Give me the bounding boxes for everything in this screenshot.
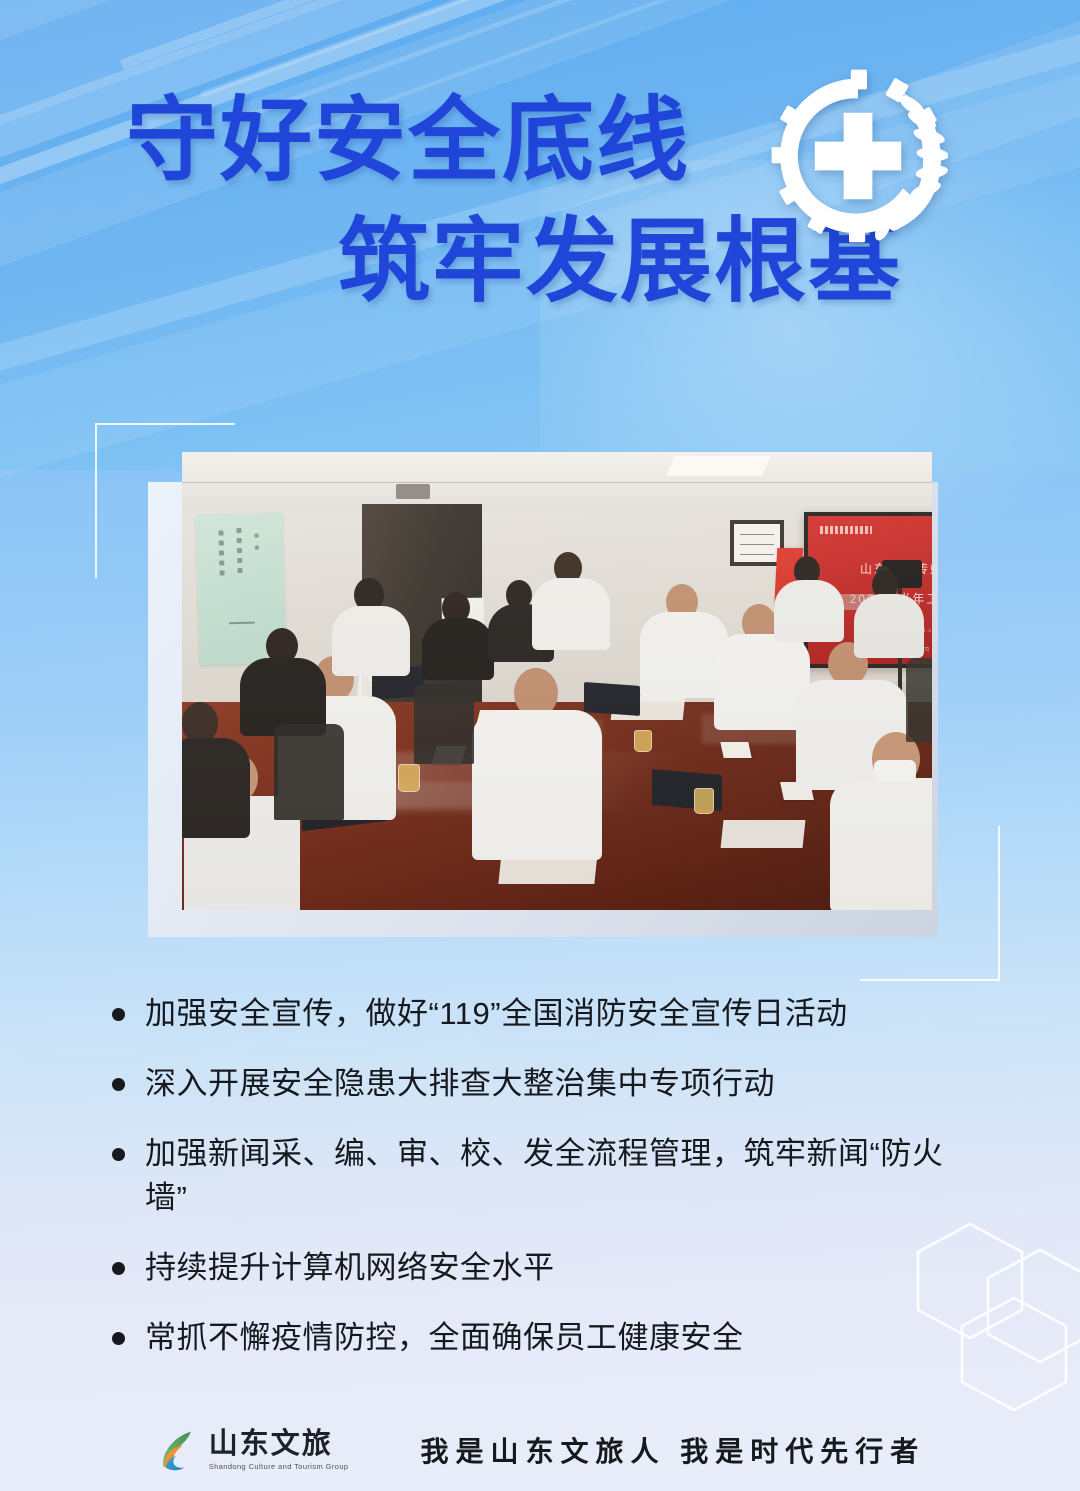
- bullet-dot-icon: [112, 1078, 125, 1091]
- poster-footer: 山东文旅 Shandong Culture and Tourism Group …: [0, 1427, 1080, 1473]
- list-item: 持续提升计算机网络安全水平: [112, 1246, 1012, 1290]
- meeting-photo-block: 山东文旅传媒集团 2022年半年工作会议 www.sdwl.cn 山东文旅传媒集…: [148, 452, 948, 942]
- bullet-text: 加强安全宣传，做好“119”全国消防安全宣传日活动: [145, 992, 848, 1036]
- bullet-text: 持续提升计算机网络安全水平: [145, 1246, 555, 1290]
- bullet-list: 加强安全宣传，做好“119”全国消防安全宣传日活动 深入开展安全隐患大排查大整治…: [112, 992, 1012, 1360]
- brand-name-en: Shandong Culture and Tourism Group: [209, 1462, 349, 1471]
- shandong-culture-tourism-logo-icon: [155, 1427, 201, 1473]
- brand-name-cn: 山东文旅: [209, 1429, 349, 1459]
- bullet-text: 加强新闻采、编、审、校、发全流程管理，筑牢新闻“防火墙”: [145, 1132, 975, 1220]
- list-item: 加强新闻采、编、审、校、发全流程管理，筑牢新闻“防火墙”: [112, 1132, 1012, 1220]
- brand-lockup: 山东文旅 Shandong Culture and Tourism Group: [155, 1427, 349, 1473]
- poster-root: 守好安全底线 筑牢发展根基: [0, 0, 1080, 1491]
- bullet-dot-icon: [112, 1148, 125, 1161]
- list-item: 深入开展安全隐患大排查大整治集中专项行动: [112, 1062, 1012, 1106]
- meeting-photo: 山东文旅传媒集团 2022年半年工作会议 www.sdwl.cn 山东文旅传媒集…: [182, 452, 932, 910]
- list-item: 加强安全宣传，做好“119”全国消防安全宣传日活动: [112, 992, 1012, 1036]
- bullet-dot-icon: [112, 1262, 125, 1275]
- work-safety-emblem-icon: [768, 66, 948, 246]
- list-item: 常抓不懈疫情防控，全面确保员工健康安全: [112, 1316, 1012, 1360]
- bullet-text: 深入开展安全隐患大排查大整治集中专项行动: [145, 1062, 775, 1106]
- footer-tagline: 我是山东文旅人 我是时代先行者: [421, 1430, 926, 1470]
- bullet-dot-icon: [112, 1008, 125, 1021]
- bullet-text: 常抓不懈疫情防控，全面确保员工健康安全: [145, 1316, 744, 1360]
- bullet-dot-icon: [112, 1332, 125, 1345]
